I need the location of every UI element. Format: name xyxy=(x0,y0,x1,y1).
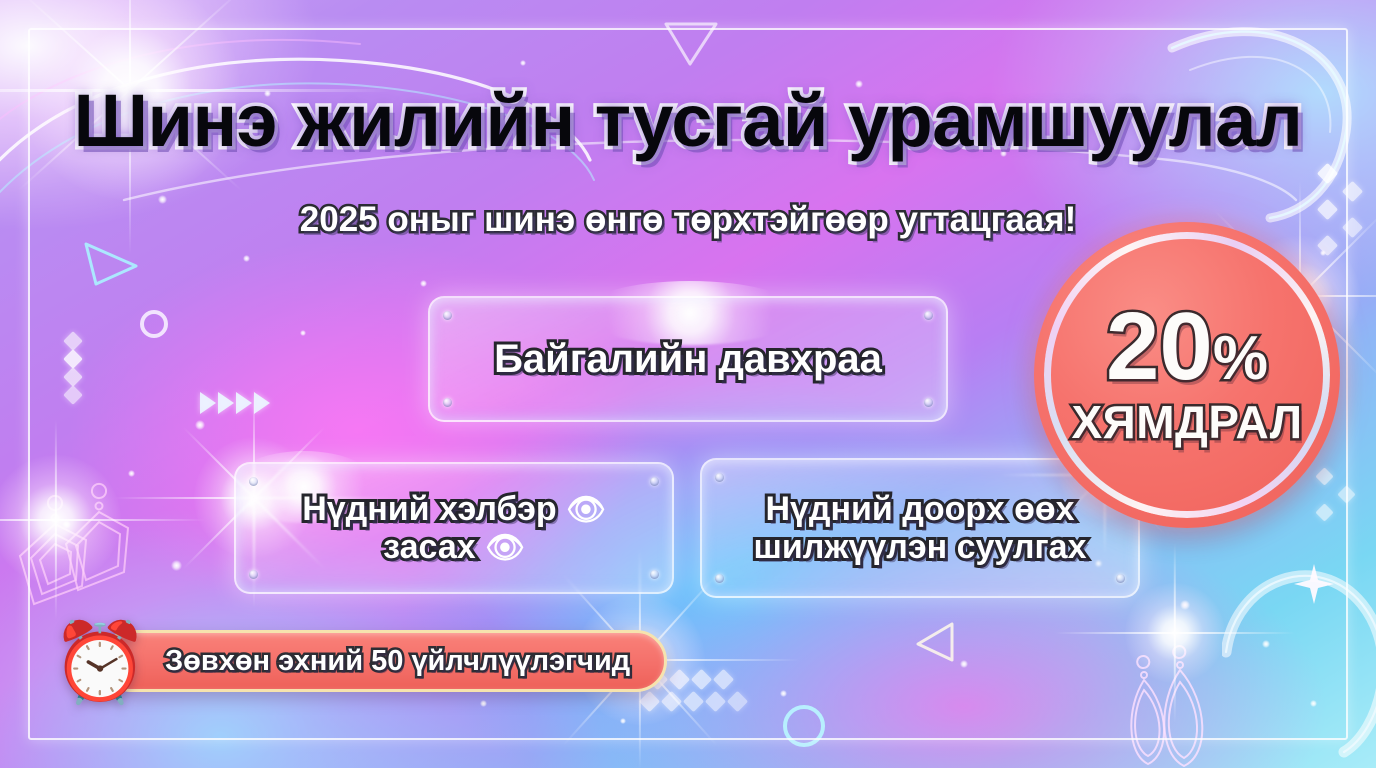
service-left-line2: засах xyxy=(383,528,476,566)
discount-percent-sign: % xyxy=(1213,324,1268,393)
triangle-outline-bottom xyxy=(908,618,964,666)
rivet-icon xyxy=(443,311,452,320)
offer-text: Зөвхөн эхний 50 үйлчлүүлэгчид xyxy=(165,645,630,678)
page-title: Шинэ жилийн тусгай урамшуулал xyxy=(0,78,1376,163)
discount-amount: 20% xyxy=(1106,301,1268,392)
service-right-line1: Нүдний доорх өөх xyxy=(765,490,1074,528)
flare-left-edge xyxy=(0,430,146,610)
rivet-icon xyxy=(443,398,452,407)
rivet-icon xyxy=(715,574,724,583)
discount-badge[interactable]: 20% ХЯМДРАЛ xyxy=(1034,222,1340,528)
rivet-icon xyxy=(249,570,258,579)
service-plate-left[interactable]: Нүдний хэлбэр 👁 засах 👁 xyxy=(234,462,674,594)
discount-label: ХЯМДРАЛ xyxy=(1071,395,1302,449)
service-plate-right-label: Нүдний доорх өөх шилжүүлэн суулгах xyxy=(740,490,1101,566)
discount-number: 20 xyxy=(1106,293,1213,400)
circle-outline-bottom xyxy=(778,700,830,752)
service-left-line1: Нүдний хэлбэр xyxy=(302,490,556,528)
service-plate-top[interactable]: Байгалийн давхраа xyxy=(428,296,948,422)
service-right-line2: шилжүүлэн суулгах xyxy=(754,528,1087,566)
rivet-icon xyxy=(924,398,933,407)
offer-pill[interactable]: Зөвхөн эхний 50 үйлчлүүлэгчид xyxy=(100,630,667,692)
rivet-icon xyxy=(249,477,258,486)
triangle-outline-left xyxy=(80,236,142,288)
rivet-icon xyxy=(715,473,724,482)
service-plate-top-label: Байгалийн давхраа xyxy=(480,337,896,382)
rivet-icon xyxy=(650,477,659,486)
headband-bottom-right xyxy=(1222,556,1376,768)
sparkle-star-right xyxy=(1292,562,1336,606)
alarm-clock-icon: ⏰ xyxy=(48,616,152,710)
triangle-outline-top xyxy=(660,18,722,68)
rivet-icon xyxy=(1116,574,1125,583)
rivet-icon xyxy=(650,570,659,579)
rivet-icon xyxy=(924,311,933,320)
service-plate-left-label: Нүдний хэлбэр 👁 засах 👁 xyxy=(288,490,620,566)
promo-banner: Шинэ жилийн тусгай урамшуулал 2025 оныг … xyxy=(0,0,1376,768)
earrings-teardrop-bottom-right xyxy=(1128,628,1262,768)
eye-with-brow-icon: 👁 xyxy=(566,492,606,528)
circle-outline-left xyxy=(136,306,172,342)
eye-icon: 👁 xyxy=(485,530,525,566)
